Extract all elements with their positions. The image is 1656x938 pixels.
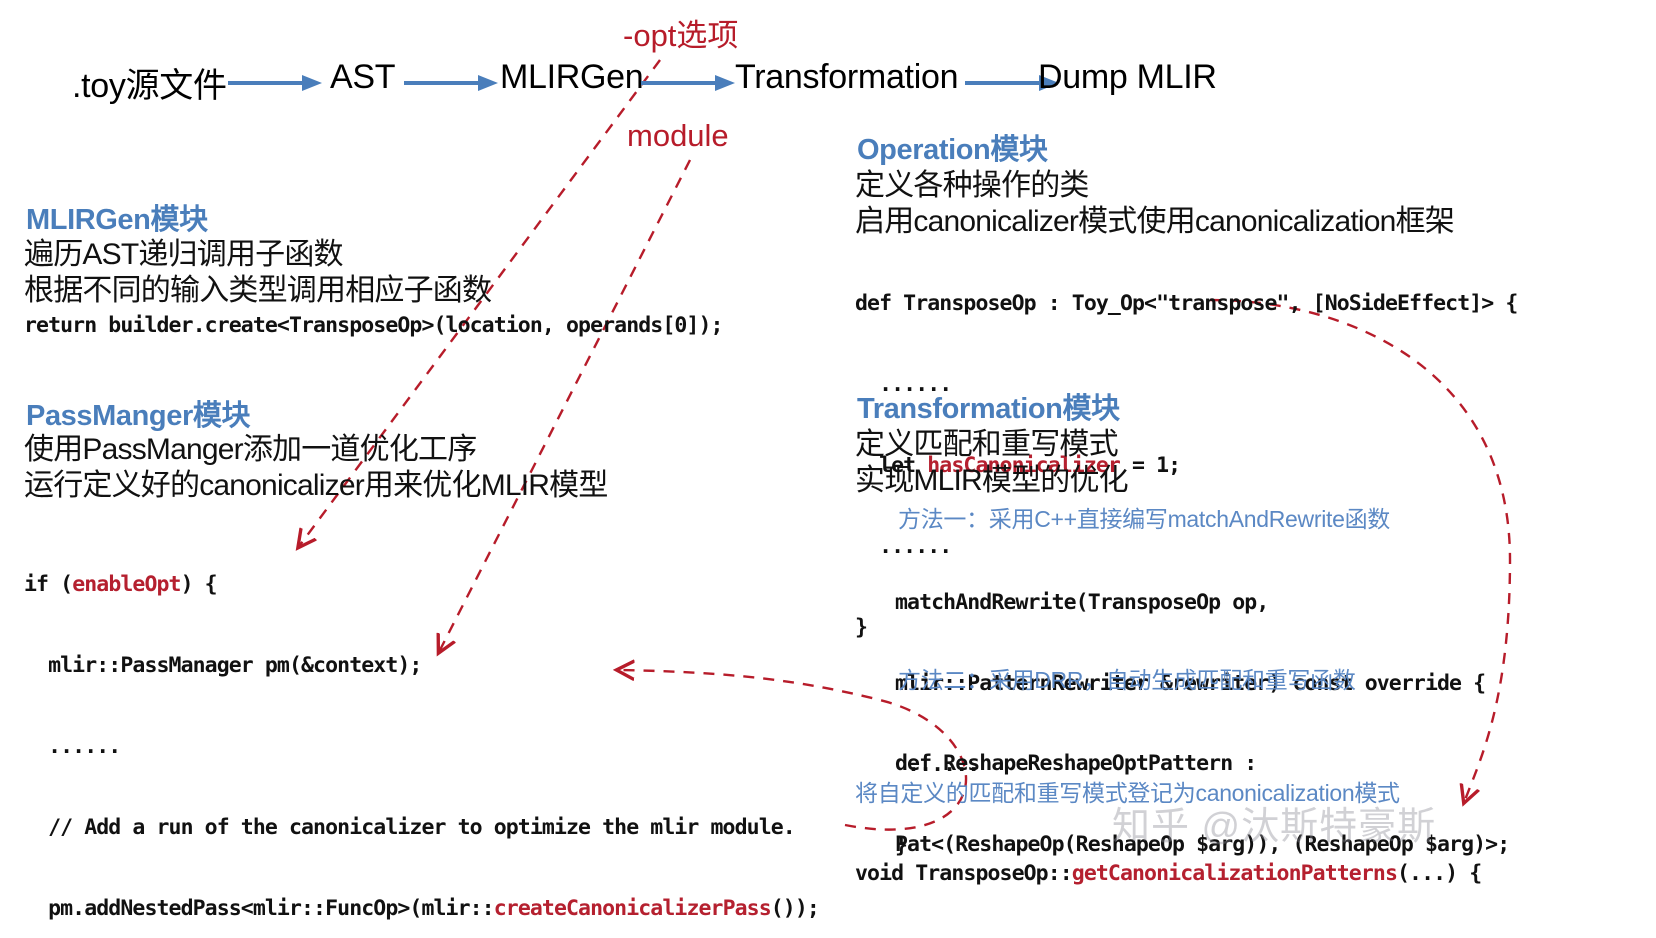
passmanger-code-line-3: ...... [24,733,819,760]
passmanger-code-line-2: mlir::PassManager pm(&context); [24,652,819,679]
flow-node-dump-mlir: Dump MLIR [1038,58,1217,97]
code-text: pm.addNestedPass<mlir::FuncOp>(mlir:: [24,896,494,921]
mlirgen-code: return builder.create<TransposeOp>(locat… [24,312,723,339]
code-keyword-enableopt: enableOpt [72,572,180,597]
code-text: = 1; [1120,453,1180,478]
code-keyword-createcanonicalizerpass: createCanonicalizerPass [494,896,771,921]
watermark: 知乎 @汰斯特豪斯 [1112,795,1436,850]
passmanger-code-block: if (enableOpt) { mlir::PassManager pm(&c… [24,517,819,938]
register-code-line-1: void TransposeOp::getCanonicalizationPat… [855,860,1493,887]
transformation-line-2: 实现MLIR模型的优化 [855,455,1128,499]
transformation-method2-note: 方法二：采用DRR，自动生成匹配和重写函数 [898,661,1356,695]
flow-node-ast: AST [330,58,395,97]
passmanger-code-line-1: if (enableOpt) { [24,571,819,598]
code-text: ()); [771,896,819,921]
flow-node-mlirgen: MLIRGen [500,58,643,97]
flow-arrow-1 [228,72,324,94]
flow-arrow-2 [404,72,500,94]
passmanger-code-line-4: // Add a run of the canonicalizer to opt… [24,814,819,841]
flow-node-toy-source: .toy源文件 [72,58,227,107]
annotation-module: module [627,118,729,154]
passmanger-line-2: 运行定义好的canonicalizer用来优化MLIR模型 [24,460,608,504]
transformation-method1-note: 方法一：采用C++直接编写matchAndRewrite函数 [898,500,1390,534]
annotation-opt-option: -opt选项 [623,10,738,55]
operation-line-2: 启用canonicalizer模式使用canonicalization框架 [855,196,1454,240]
diagram-canvas: .toy源文件 AST MLIRGen Transformation Dump … [0,0,1656,938]
mlirgen-line-2: 根据不同的输入类型调用相应子函数 [24,265,491,309]
code-text: ) { [181,572,217,597]
code-text: void TransposeOp:: [855,861,1072,886]
code-line: def ReshapeReshapeOptPattern : [895,750,1509,777]
code-text: (...) { [1397,861,1481,886]
code-text: if ( [24,572,72,597]
code-keyword-getcanonicalizationpatterns: getCanonicalizationPatterns [1072,861,1397,886]
flow-node-transformation: Transformation [735,58,958,97]
passmanger-code-line-5: pm.addNestedPass<mlir::FuncOp>(mlir::cre… [24,895,819,922]
operation-code-line-1: def TransposeOp : Toy_Op<"transpose", [N… [855,290,1517,317]
code-line: matchAndRewrite(TransposeOp op, [895,589,1485,616]
flow-arrow-3 [641,72,737,94]
